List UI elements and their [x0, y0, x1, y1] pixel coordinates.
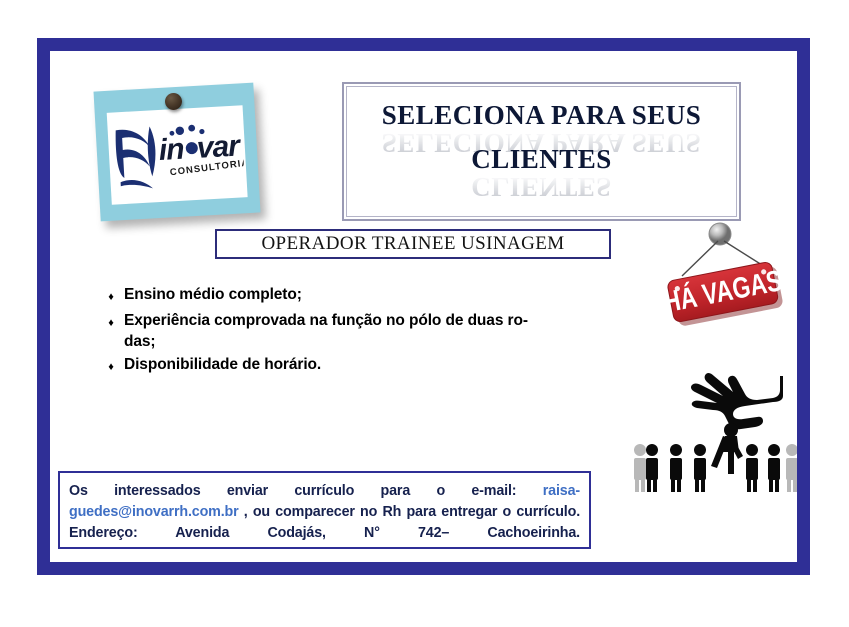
contact-paragraph: Os interessados enviar currículo para o …	[69, 481, 580, 562]
requirement-item: ♦ Disponibilidade de horário.	[98, 354, 623, 378]
headline-line-2-reflection: CLIENTES	[347, 171, 736, 202]
requirement-text: Disponibilidade de horário.	[124, 354, 321, 375]
diamond-bullet-icon: ♦	[98, 284, 124, 308]
job-title-box: OPERADOR TRAINEE USINAGEM	[215, 229, 611, 259]
headline-banner: SELECIONA PARA SEUS SELECIONA PARA SEUS …	[342, 82, 741, 221]
requirement-text: Experiência comprovada na função no pólo…	[124, 310, 528, 352]
svg-text:in: in	[158, 133, 185, 167]
recruitment-illustration	[633, 356, 797, 492]
ha-vagas-sign: HÁ VAGAS	[658, 221, 788, 339]
ha-vagas-sign-icon: HÁ VAGAS	[658, 221, 788, 339]
requirement-text-line-1: Experiência comprovada na função no pólo…	[124, 312, 528, 329]
inovar-logo-icon: in var CONSULTORIA RH	[109, 109, 245, 200]
contact-lead-text: Os interessados enviar currículo para o …	[69, 483, 516, 499]
diamond-bullet-icon: ♦	[98, 354, 124, 378]
logo-sticky-note: in var CONSULTORIA RH	[97, 87, 265, 231]
requirements-list: ♦ Ensino médio completo; ♦ Experiência c…	[98, 284, 623, 380]
requirement-text-line-2: das;	[124, 333, 155, 350]
requirement-item: ♦ Ensino médio completo;	[98, 284, 623, 308]
contact-info-box: Os interessados enviar currículo para o …	[58, 471, 591, 549]
flyer-content-area: in var CONSULTORIA RH SELECIONA PARA SEU…	[50, 51, 797, 562]
contact-middle-text: , ou comparecer no Rh para entregar o	[244, 504, 511, 520]
pushpin-icon	[165, 93, 182, 110]
headline-banner-inner: SELECIONA PARA SEUS SELECIONA PARA SEUS …	[346, 86, 737, 217]
hand-picking-person-icon	[633, 356, 797, 492]
job-title: OPERADOR TRAINEE USINAGEM	[261, 233, 564, 255]
diamond-bullet-icon: ♦	[98, 310, 124, 334]
job-posting-flyer: in var CONSULTORIA RH SELECIONA PARA SEU…	[0, 0, 849, 627]
requirement-text: Ensino médio completo;	[124, 284, 302, 305]
requirement-item: ♦ Experiência comprovada na função no pó…	[98, 310, 623, 352]
